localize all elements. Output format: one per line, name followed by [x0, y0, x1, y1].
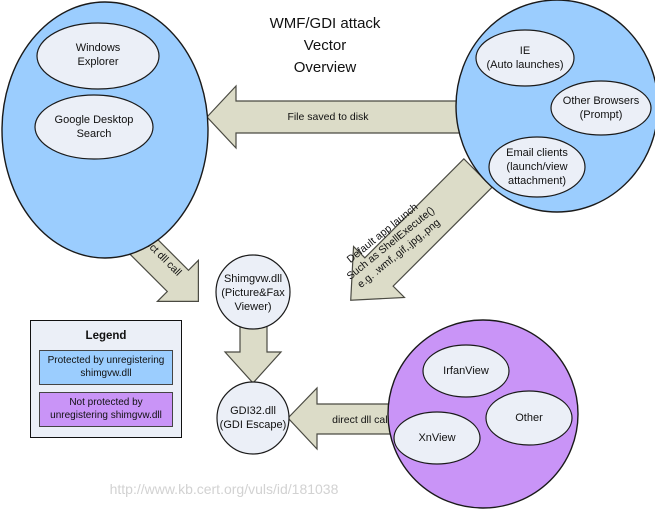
edge-shimgvw-to-gdi32	[225, 325, 281, 383]
edge-direct-dll-right-label: direct dll call	[332, 414, 390, 426]
diagram-title-line2: Vector	[304, 37, 347, 54]
other-browsers-line1: Other Browsers	[563, 95, 640, 107]
legend-title: Legend	[39, 330, 173, 342]
legend-item-unprotected: Not protected by unregistering shimgvw.d…	[39, 392, 173, 427]
group-network-entry[interactable]: IE (Auto launches) Other Browsers (Promp…	[456, 0, 655, 212]
google-desktop-search-line2: Search	[77, 128, 112, 140]
other-browsers-line2: (Prompt)	[580, 109, 623, 121]
node-shimgvw-dll[interactable]: Shimgvw.dll (Picture&Fax Viewer)	[216, 255, 290, 329]
diagram-canvas: File saved to disk direct dll call Defau…	[0, 0, 655, 520]
xnview-label: XnView	[418, 432, 455, 444]
group-protected-apps[interactable]: Windows Explorer Google Desktop Search	[2, 2, 208, 258]
email-clients-line1: Email clients	[506, 147, 568, 159]
other-label: Other	[515, 412, 543, 424]
footer-url: http://www.kb.cert.org/vuls/id/181038	[110, 481, 339, 497]
wmf-gdi-attack-vector-diagram: File saved to disk direct dll call Defau…	[0, 0, 655, 520]
node-other[interactable]: Other	[486, 391, 572, 445]
windows-explorer-line2: Explorer	[78, 56, 119, 68]
shimgvw-line2: (Picture&Fax	[221, 287, 285, 299]
google-desktop-search-line1: Google Desktop	[55, 114, 134, 126]
gdi32-line1: GDI32.dll	[230, 405, 276, 417]
node-gdi32-dll[interactable]: GDI32.dll (GDI Escape)	[217, 382, 289, 454]
node-ie[interactable]: IE (Auto launches)	[476, 30, 574, 86]
irfanview-label: IrfanView	[443, 365, 489, 377]
legend-item-unprotected-line2: unregistering shimgvw.dll	[50, 410, 162, 421]
node-irfanview[interactable]: IrfanView	[423, 345, 509, 397]
email-clients-line3: attachment)	[508, 175, 566, 187]
legend-item-protected: Protected by unregistering shimgvw.dll	[39, 350, 173, 385]
diagram-title: WMF/GDI attack Vector Overview	[270, 15, 381, 76]
diagram-title-line3: Overview	[294, 59, 357, 76]
legend: Legend Protected by unregistering shimgv…	[30, 320, 182, 438]
legend-item-protected-line2: shimgvw.dll	[80, 368, 131, 379]
edge-file-saved-to-disk: File saved to disk	[207, 86, 465, 148]
node-xnview[interactable]: XnView	[394, 412, 480, 464]
shimgvw-line3: Viewer)	[234, 301, 271, 313]
node-google-desktop-search[interactable]: Google Desktop Search	[35, 95, 153, 159]
shimgvw-line1: Shimgvw.dll	[224, 273, 282, 285]
edge-direct-dll-right: direct dll call	[288, 388, 400, 449]
node-email-clients[interactable]: Email clients (launch/view attachment)	[489, 137, 585, 197]
node-other-browsers[interactable]: Other Browsers (Prompt)	[551, 81, 651, 135]
email-clients-line2: (launch/view	[506, 161, 567, 173]
windows-explorer-line1: Windows	[76, 42, 121, 54]
ie-line1: IE	[520, 45, 530, 57]
legend-item-unprotected-line1: Not protected by	[69, 397, 142, 408]
edge-default-app-launch: Default app launch Such as ShellExecute(…	[325, 148, 503, 326]
diagram-title-line1: WMF/GDI attack	[270, 15, 381, 32]
group-unprotected-apps[interactable]: IrfanView Other XnView	[388, 320, 578, 508]
edge-file-saved-label: File saved to disk	[287, 111, 369, 123]
ie-line2: (Auto launches)	[486, 59, 563, 71]
gdi32-line2: (GDI Escape)	[220, 419, 287, 431]
legend-item-protected-line1: Protected by unregistering	[48, 355, 165, 366]
node-windows-explorer[interactable]: Windows Explorer	[37, 23, 159, 89]
arrow-shimgvw-to-gdi32	[225, 325, 281, 383]
